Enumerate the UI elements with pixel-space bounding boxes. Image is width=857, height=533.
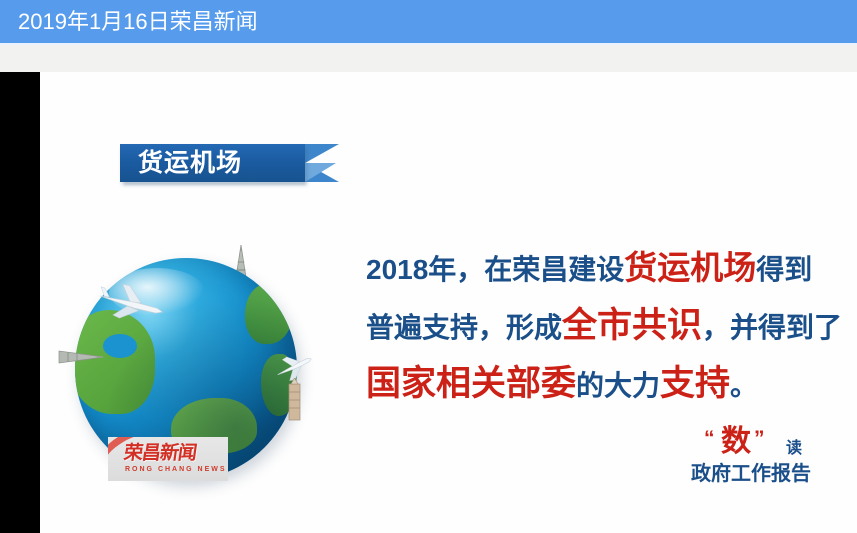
section-banner: 货运机场 [120,144,305,182]
inland-sea [103,334,137,358]
program-logo-subtitle: 政府工作报告 [691,461,811,487]
program-logo: “ 数 ” 读 政府工作报告 [688,428,818,490]
program-logo-read-char: 读 [786,439,802,459]
landmark-tower-icon [283,378,305,424]
news-station-watermark: 荣昌新闻 RONG CHANG NEWS [108,437,228,481]
landmark-tower-icon [55,346,105,368]
text-segment: 得到 [756,254,812,285]
landmass [245,284,293,344]
text-segment-highlight: 全市共识 [562,306,702,345]
quote-open-mark: “ [704,428,715,449]
program-logo-row: “ 数 ” 读 [688,428,818,462]
program-logo-highlight-char: 数 [721,425,751,459]
watermark-title: 荣昌新闻 [122,443,197,465]
body-line: 普遍支持，形成全市共识，并得到了 [366,298,836,356]
header-hairline [0,43,857,45]
article-body-text: 2018年，在荣昌建设货运机场得到 普遍支持，形成全市共识，并得到了 国家相关部… [366,240,836,414]
page-title: 2019年1月16日荣昌新闻 [18,7,258,36]
body-line: 2018年，在荣昌建设货运机场得到 [366,240,836,298]
text-segment-highlight: 货运机场 [624,249,756,286]
body-line: 国家相关部委的大力支持。 [366,356,836,414]
header-divider-band [0,43,857,72]
watermark-subtitle: RONG CHANG NEWS [125,465,227,474]
text-segment: ，并得到了 [702,312,842,343]
screenshot-root: 2019年1月16日荣昌新闻 货运机场 [0,0,857,533]
letterbox-bar-left [0,72,40,533]
text-segment: 。 [730,370,758,401]
banner-arrow-fold-icon [305,163,336,182]
text-segment: 2018年，在荣昌建设 [366,254,624,285]
text-segment-highlight: 国家相关部委 [366,364,576,403]
page-header-bar: 2019年1月16日荣昌新闻 [0,0,857,43]
text-segment-highlight: 支持 [660,364,730,403]
quote-close-mark: ” [754,428,765,449]
banner-shadow [124,182,306,185]
section-banner-label: 货运机场 [138,148,242,179]
airplane-icon [95,284,167,326]
text-segment: 普遍支持，形成 [366,312,562,343]
text-segment: 的大力 [576,370,660,401]
